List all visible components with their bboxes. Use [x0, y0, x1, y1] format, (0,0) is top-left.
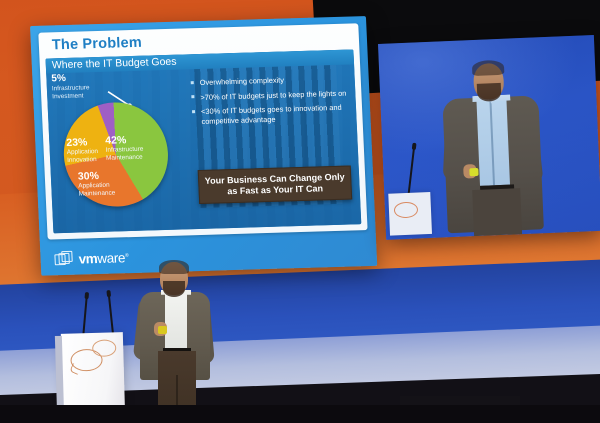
projection-screen-slide: The Problem Where the IT Budget Goes 5% …	[30, 16, 377, 276]
vmware-wordmark: vmware®	[78, 250, 128, 266]
callout-box: Your Business Can Change Only as Fast as…	[198, 166, 352, 204]
pie-label-42-value: 42%	[105, 134, 143, 147]
callout-label-infrastructure-investment: InfrastructureInvestment	[52, 84, 109, 101]
bullet-item: <30% of IT budgets goes to innovation an…	[192, 103, 351, 127]
video-speaker-shirt	[476, 99, 510, 186]
foreground-floor	[0, 405, 600, 423]
page-title: The Problem	[52, 35, 143, 54]
video-feed	[378, 35, 600, 240]
speaker-hair	[159, 260, 189, 274]
slide-frame: The Problem Where the IT Budget Goes 5% …	[30, 16, 377, 276]
pie-label-infrastructure-maintenance: 42% InfrastructureMaintenance	[105, 134, 144, 163]
speech-bubble-small-icon	[92, 339, 116, 357]
conference-scene: The Problem Where the IT Budget Goes 5% …	[0, 0, 600, 423]
vmware-squares-icon	[54, 251, 72, 268]
video-speaker-trousers	[472, 188, 522, 236]
pie-label-23-value: 23%	[66, 136, 98, 149]
video-podium	[388, 192, 432, 236]
vmware-logo: vmware®	[54, 249, 128, 268]
pie-label-application-maintenance: 30% ApplicationMaintenance	[78, 170, 116, 199]
speaker-shirt	[165, 294, 187, 350]
callout-percent-5: 5%	[51, 74, 66, 84]
slide-body: The Problem Where the IT Budget Goes 5% …	[38, 23, 367, 239]
slide-content-panel: Where the IT Budget Goes 5% Infrastructu…	[45, 49, 361, 233]
speaker-video-screen	[378, 35, 600, 240]
pie-label-30-text: ApplicationMaintenance	[78, 182, 115, 198]
section-band-label: Where the IT Budget Goes	[52, 56, 177, 72]
speaker-beard	[163, 281, 185, 297]
pie-label-30-value: 30%	[78, 170, 115, 183]
stage-speaker	[132, 262, 218, 420]
video-speaker-clicker	[469, 168, 478, 176]
bullet-list: Overwhelming complexity >70% of IT budge…	[191, 74, 351, 132]
pie-label-42-text: InfrastructureMaintenance	[106, 146, 144, 162]
pie-label-application-innovation: 23% ApplicationInnovation	[66, 136, 99, 164]
bullet-item: >70% of IT budgets just to keep the ligh…	[191, 88, 349, 102]
pie-label-23-text: ApplicationInnovation	[67, 148, 99, 164]
speaker-clicker	[158, 326, 167, 334]
video-speaker-hair	[472, 60, 505, 76]
